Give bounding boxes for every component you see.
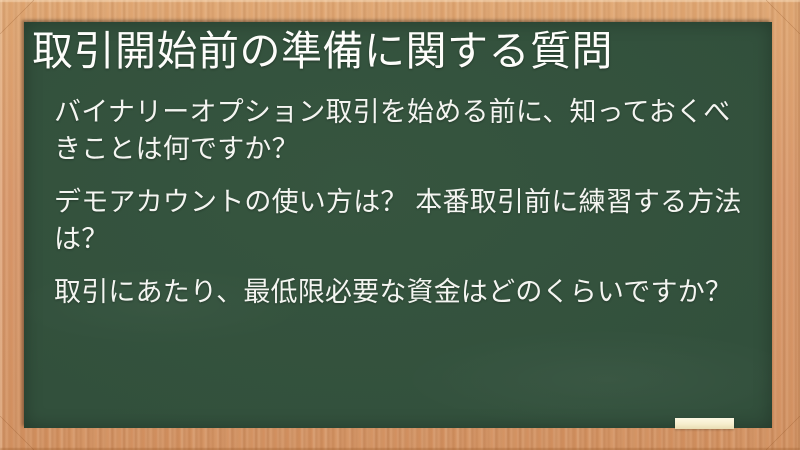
question-list: バイナリーオプション取引を始める前に、知っておくべきことは何ですか？ デモアカウ… (54, 94, 754, 311)
slide-title: 取引開始前の準備に関する質問 (32, 30, 613, 73)
chalk-stick (675, 418, 734, 429)
question-item-2: デモアカウントの使い方は？ 本番取引前に練習する方法は？ (54, 184, 754, 258)
chalkboard-slide: 取引開始前の準備に関する質問 バイナリーオプション取引を始める前に、知っておくべ… (0, 0, 800, 450)
chalkboard-surface: 取引開始前の準備に関する質問 バイナリーオプション取引を始める前に、知っておくべ… (24, 22, 772, 428)
question-item-1: バイナリーオプション取引を始める前に、知っておくべきことは何ですか？ (54, 94, 754, 168)
question-item-3: 取引にあたり、最低限必要な資金はどのくらいですか？ (54, 274, 754, 311)
